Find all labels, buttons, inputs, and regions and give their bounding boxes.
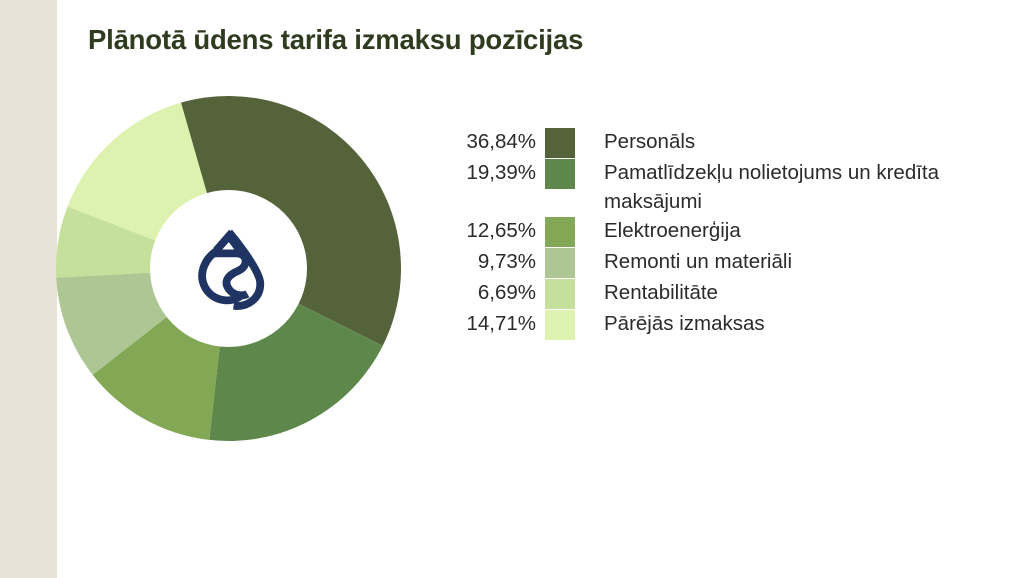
legend-item[interactable]: 12,65% Elektroenerģija bbox=[440, 216, 1000, 247]
page-title: Plānotā ūdens tarifa izmaksu pozīcijas bbox=[88, 23, 888, 56]
legend-percentage: 19,39% bbox=[440, 158, 536, 188]
legend-item[interactable]: 9,73% Remonti un materiāli bbox=[440, 247, 1000, 278]
legend-color-swatch bbox=[545, 217, 575, 247]
legend-label: Remonti un materiāli bbox=[604, 247, 792, 277]
legend-color-swatch bbox=[545, 128, 575, 158]
legend-percentage: 9,73% bbox=[440, 247, 536, 277]
legend-percentage: 36,84% bbox=[440, 127, 536, 157]
water-drop-recycle-logo-icon bbox=[183, 223, 275, 315]
legend-item[interactable]: 6,69% Rentabilitāte bbox=[440, 278, 1000, 309]
legend-item[interactable]: 36,84% Personāls bbox=[440, 127, 1000, 158]
slide-canvas: Plānotā ūdens tarifa izmaksu pozīcijas bbox=[0, 0, 1024, 578]
legend-percentage: 14,71% bbox=[440, 309, 536, 339]
legend-label: Pamatlīdzekļu nolietojums un kredīta mak… bbox=[604, 158, 1000, 216]
legend-label: Rentabilitāte bbox=[604, 278, 718, 308]
legend-item[interactable]: 19,39% Pamatlīdzekļu nolietojums un kred… bbox=[440, 158, 1000, 216]
legend-label: Elektroenerģija bbox=[604, 216, 741, 246]
legend-item[interactable]: 14,71% Pārējās izmaksas bbox=[440, 309, 1000, 340]
legend-color-swatch bbox=[545, 248, 575, 278]
legend-color-swatch bbox=[545, 159, 575, 189]
left-decorative-band bbox=[0, 0, 57, 578]
legend-percentage: 6,69% bbox=[440, 278, 536, 308]
donut-chart bbox=[56, 96, 401, 441]
legend-label: Pārējās izmaksas bbox=[604, 309, 765, 339]
chart-legend: 36,84% Personāls 19,39% Pamatlīdzekļu no… bbox=[440, 127, 1000, 340]
legend-color-swatch bbox=[545, 279, 575, 309]
legend-label: Personāls bbox=[604, 127, 695, 157]
legend-percentage: 12,65% bbox=[440, 216, 536, 246]
donut-center-hole bbox=[150, 190, 307, 347]
legend-color-swatch bbox=[545, 310, 575, 340]
